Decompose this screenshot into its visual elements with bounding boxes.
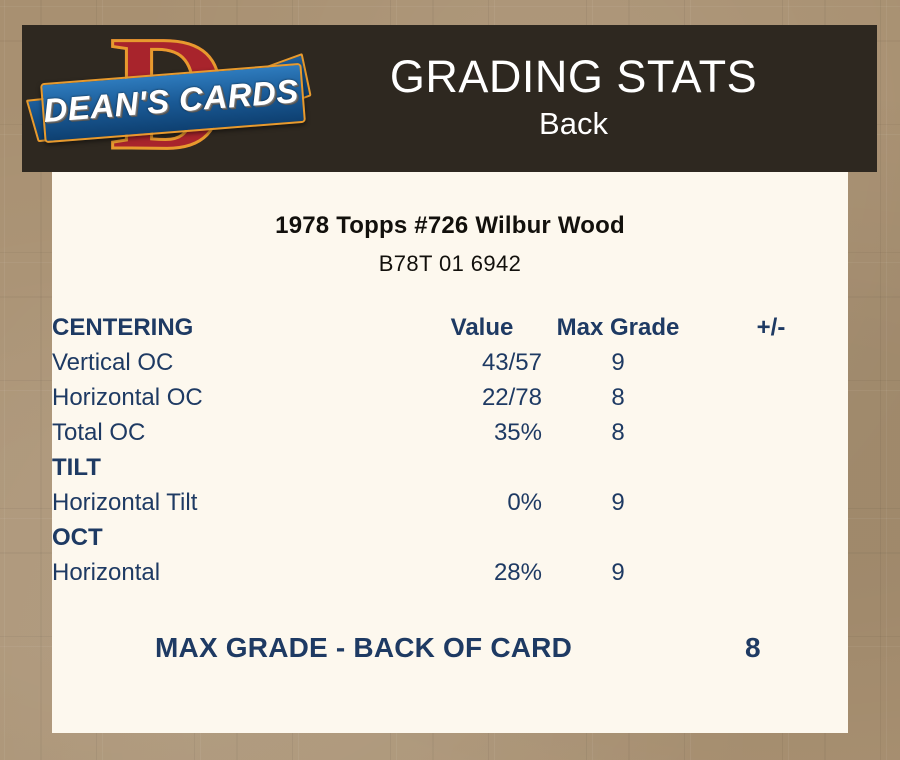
table-row: Horizontal OC22/788 (52, 380, 848, 415)
stat-max-grade: 9 (542, 345, 694, 380)
column-header-category: CENTERING (52, 310, 422, 345)
section-header-pm-spacer (694, 520, 848, 555)
column-header-plus-minus: +/- (694, 310, 848, 345)
grading-stats-body: CENTERINGValueMax Grade+/-Vertical OC43/… (52, 310, 848, 590)
max-grade-value: 8 (745, 632, 761, 664)
stat-value: 43/57 (422, 345, 542, 380)
stat-label: Horizontal (52, 555, 422, 590)
stat-max-grade: 9 (542, 555, 694, 590)
table-row: Vertical OC43/579 (52, 345, 848, 380)
deans-cards-logo: D DEAN'S CARDS (42, 29, 300, 169)
section-header-row: TILT (52, 450, 848, 485)
stat-max-grade: 8 (542, 415, 694, 450)
stat-value: 28% (422, 555, 542, 590)
max-grade-summary: MAX GRADE - BACK OF CARD 8 (52, 632, 848, 664)
column-header-value: Value (422, 310, 542, 345)
section-header-row: OCT (52, 520, 848, 555)
page-subtitle: Back (300, 104, 847, 144)
content-panel: 1978 Topps #726 Wilbur Wood B78T 01 6942… (52, 172, 848, 733)
table-header-row: CENTERINGValueMax Grade+/- (52, 310, 848, 345)
table-row: Horizontal28%9 (52, 555, 848, 590)
stat-max-grade: 9 (542, 485, 694, 520)
section-header-value-spacer (422, 450, 542, 485)
stat-label: Total OC (52, 415, 422, 450)
section-header-pm-spacer (694, 450, 848, 485)
card-title: 1978 Topps #726 Wilbur Wood (52, 212, 848, 240)
stat-label: Vertical OC (52, 345, 422, 380)
section-header-label: TILT (52, 450, 422, 485)
header-titles: GRADING STATS Back (300, 50, 877, 144)
card-code: B78T 01 6942 (52, 251, 848, 277)
stat-plus-minus (694, 485, 848, 520)
column-header-max-grade: Max Grade (542, 310, 694, 345)
section-header-label: OCT (52, 520, 422, 555)
grading-stats-table: CENTERINGValueMax Grade+/-Vertical OC43/… (52, 310, 848, 590)
stat-value: 22/78 (422, 380, 542, 415)
table-row: Horizontal Tilt0%9 (52, 485, 848, 520)
section-header-value-spacer (422, 520, 542, 555)
stat-value: 35% (422, 415, 542, 450)
stat-max-grade: 8 (542, 380, 694, 415)
logo-wordmark: DEAN'S CARDS (40, 62, 302, 138)
page-title: GRADING STATS (300, 50, 847, 104)
table-row: Total OC35%8 (52, 415, 848, 450)
max-grade-label: MAX GRADE - BACK OF CARD (155, 632, 745, 664)
stat-plus-minus (694, 555, 848, 590)
section-header-grade-spacer (542, 450, 694, 485)
stat-value: 0% (422, 485, 542, 520)
stat-label: Horizontal Tilt (52, 485, 422, 520)
stat-plus-minus (694, 415, 848, 450)
header-bar: D DEAN'S CARDS GRADING STATS Back (22, 25, 877, 172)
stat-plus-minus (694, 380, 848, 415)
stat-plus-minus (694, 345, 848, 380)
stat-label: Horizontal OC (52, 380, 422, 415)
section-header-grade-spacer (542, 520, 694, 555)
